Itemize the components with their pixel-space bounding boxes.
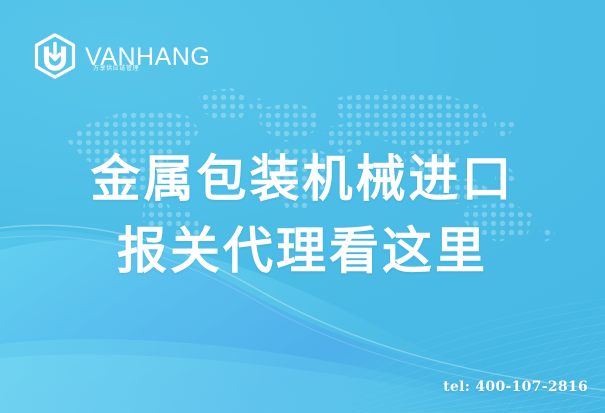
promo-banner: VANHANG 万享供应链管理 金属包装机械进口 报关代理看这里 tel: 40… <box>0 0 605 413</box>
brand-logo[interactable]: VANHANG 万享供应链管理 <box>33 33 210 79</box>
headline: 金属包装机械进口 报关代理看这里 <box>0 143 605 287</box>
brand-subtext: 万享供应链管理 <box>93 63 139 72</box>
brand-wordmark: VANHANG 万享供应链管理 <box>85 43 210 70</box>
hexagon-u-arrow-icon <box>33 33 77 79</box>
contact-phone[interactable]: tel: 400-107-2816 <box>443 379 588 395</box>
headline-line-1: 金属包装机械进口 <box>0 143 605 215</box>
headline-line-2: 报关代理看这里 <box>0 215 605 287</box>
